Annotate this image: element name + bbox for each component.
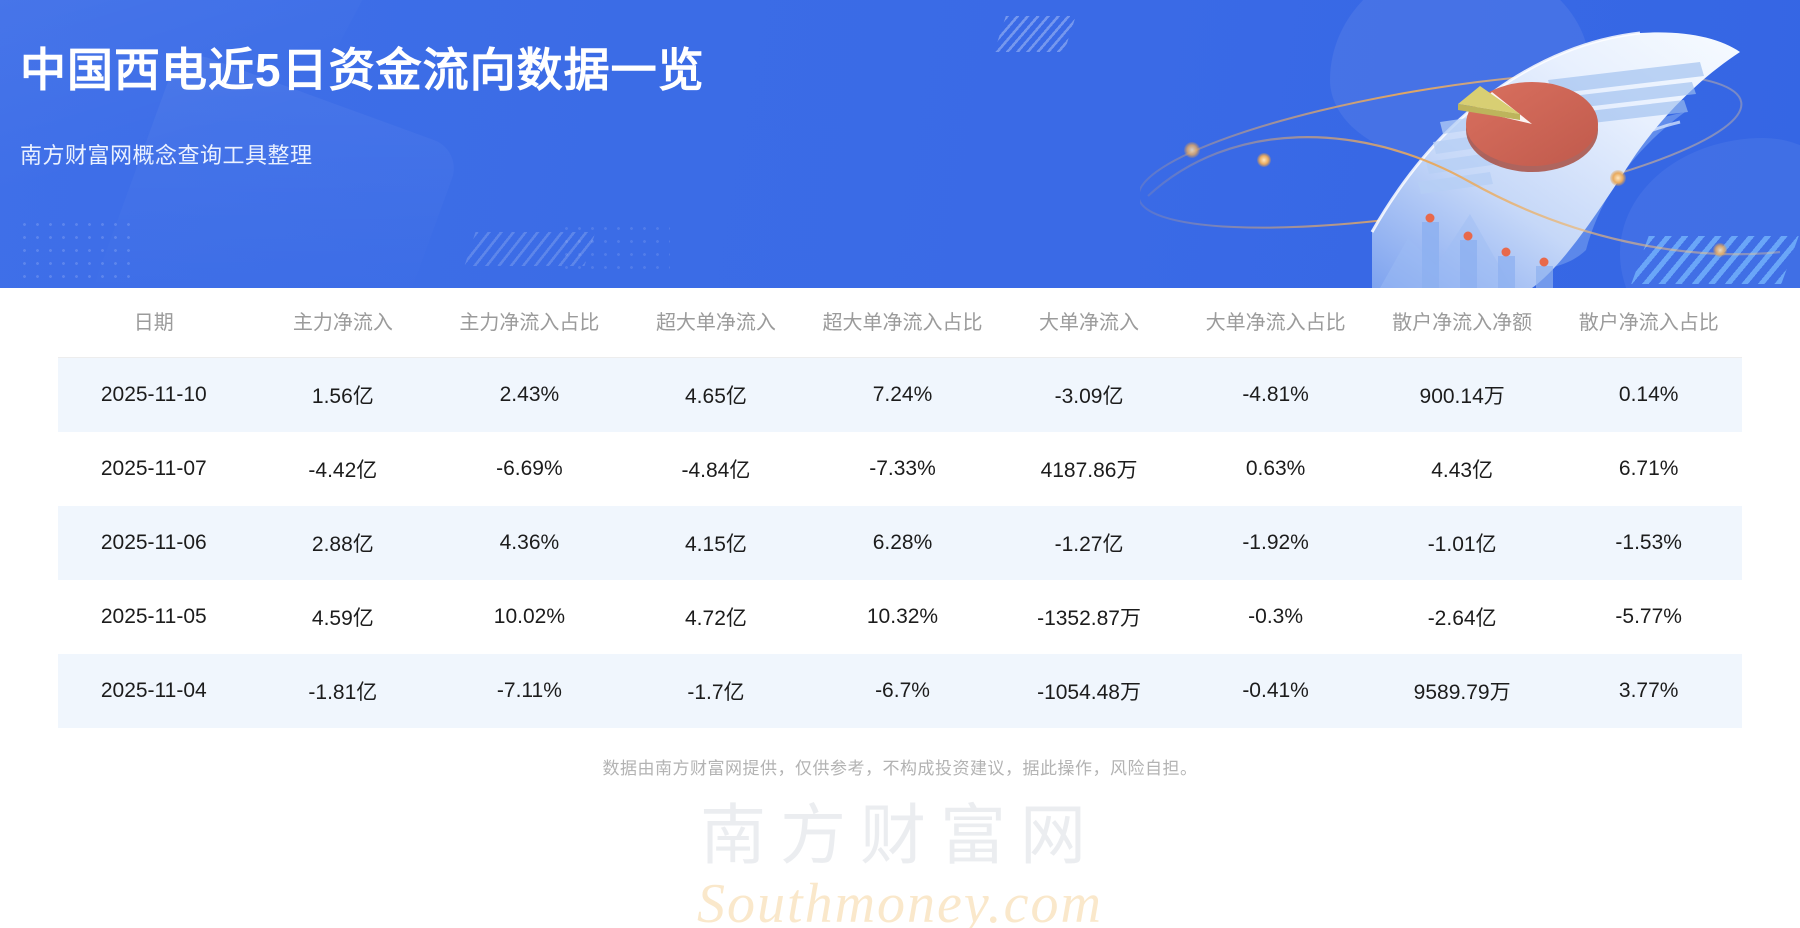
banner-decor-stripes-left [464, 232, 595, 266]
column-header-big-pct: 大单净流入占比 [1182, 288, 1369, 358]
cell-main-net: 1.56亿 [250, 358, 437, 433]
report-document-chart-illustration [1140, 0, 1800, 288]
cell-super-pct: -7.33% [809, 432, 996, 506]
cell-big-net: -1.27亿 [996, 506, 1183, 580]
cell-main-pct: 2.43% [436, 358, 623, 433]
cell-main-pct: 4.36% [436, 506, 623, 580]
cell-big-pct: -0.41% [1182, 654, 1369, 728]
cell-big-net: -1352.87万 [996, 580, 1183, 654]
banner-decor-dot-grid-secondary [560, 222, 670, 274]
column-header-main-pct: 主力净流入占比 [436, 288, 623, 358]
watermark-english: Southmoney.com [697, 876, 1103, 928]
cell-date: 2025-11-05 [58, 580, 250, 654]
column-header-retail-pct: 散户净流入占比 [1555, 288, 1742, 358]
cell-retail-net: 4.43亿 [1369, 432, 1556, 506]
banner-text-block: 中国西电近5日资金流向数据一览 南方财富网概念查询工具整理 [20, 42, 705, 170]
cell-retail-pct: 3.77% [1555, 654, 1742, 728]
fund-flow-table-section: 南方财富网 Southmoney.com 日期 主力净流入 主力净流入占比 超大… [0, 288, 1800, 779]
site-watermark: 南方财富网 Southmoney.com [0, 788, 1800, 928]
cell-super-net: 4.72亿 [623, 580, 810, 654]
disclaimer-text: 数据由南方财富网提供，仅供参考，不构成投资建议，据此操作，风险自担。 [58, 754, 1742, 779]
table-row: 2025-11-05 4.59亿 10.02% 4.72亿 10.32% -13… [58, 580, 1742, 654]
table-row: 2025-11-06 2.88亿 4.36% 4.15亿 6.28% -1.27… [58, 506, 1742, 580]
cell-main-pct: 10.02% [436, 580, 623, 654]
banner-decor-stripes-top [994, 16, 1076, 52]
watermark-chinese: 南方财富网 [700, 804, 1100, 870]
table-row: 2025-11-10 1.56亿 2.43% 4.65亿 7.24% -3.09… [58, 358, 1742, 433]
cell-main-net: 4.59亿 [250, 580, 437, 654]
cell-big-pct: -4.81% [1182, 358, 1369, 433]
page-banner: 中国西电近5日资金流向数据一览 南方财富网概念查询工具整理 [0, 0, 1800, 288]
column-header-retail-net: 散户净流入净额 [1369, 288, 1556, 358]
cell-main-net: -1.81亿 [250, 654, 437, 728]
cell-main-net: 2.88亿 [250, 506, 437, 580]
cell-date: 2025-11-10 [58, 358, 250, 433]
cell-date: 2025-11-04 [58, 654, 250, 728]
page-root: 中国西电近5日资金流向数据一览 南方财富网概念查询工具整理 [0, 0, 1800, 928]
page-subtitle: 南方财富网概念查询工具整理 [20, 138, 705, 170]
cell-super-net: -1.7亿 [623, 654, 810, 728]
table-header-row: 日期 主力净流入 主力净流入占比 超大单净流入 超大单净流入占比 大单净流入 大… [58, 288, 1742, 358]
cell-retail-net: -2.64亿 [1369, 580, 1556, 654]
cell-big-net: -3.09亿 [996, 358, 1183, 433]
fund-flow-table: 日期 主力净流入 主力净流入占比 超大单净流入 超大单净流入占比 大单净流入 大… [58, 288, 1742, 728]
cell-date: 2025-11-06 [58, 506, 250, 580]
cell-big-pct: 0.63% [1182, 432, 1369, 506]
cell-retail-pct: -1.53% [1555, 506, 1742, 580]
cell-super-pct: 6.28% [809, 506, 996, 580]
column-header-super-net: 超大单净流入 [623, 288, 810, 358]
table-row: 2025-11-04 -1.81亿 -7.11% -1.7亿 -6.7% -10… [58, 654, 1742, 728]
cell-retail-pct: -5.77% [1555, 580, 1742, 654]
cell-date: 2025-11-07 [58, 432, 250, 506]
cell-main-pct: -7.11% [436, 654, 623, 728]
cell-super-pct: 7.24% [809, 358, 996, 433]
banner-decor-dot-grid [18, 218, 138, 278]
cell-big-pct: -1.92% [1182, 506, 1369, 580]
column-header-date: 日期 [58, 288, 250, 358]
column-header-big-net: 大单净流入 [996, 288, 1183, 358]
cell-super-pct: 10.32% [809, 580, 996, 654]
cell-super-net: 4.65亿 [623, 358, 810, 433]
cell-super-net: -4.84亿 [623, 432, 810, 506]
table-row: 2025-11-07 -4.42亿 -6.69% -4.84亿 -7.33% 4… [58, 432, 1742, 506]
cell-retail-pct: 6.71% [1555, 432, 1742, 506]
column-header-super-pct: 超大单净流入占比 [809, 288, 996, 358]
cell-retail-net: 900.14万 [1369, 358, 1556, 433]
cell-retail-pct: 0.14% [1555, 358, 1742, 433]
cell-super-net: 4.15亿 [623, 506, 810, 580]
cell-super-pct: -6.7% [809, 654, 996, 728]
cell-big-net: 4187.86万 [996, 432, 1183, 506]
cell-big-pct: -0.3% [1182, 580, 1369, 654]
cell-retail-net: 9589.79万 [1369, 654, 1556, 728]
page-title: 中国西电近5日资金流向数据一览 [20, 42, 705, 100]
column-header-main-net: 主力净流入 [250, 288, 437, 358]
cell-big-net: -1054.48万 [996, 654, 1183, 728]
cell-main-pct: -6.69% [436, 432, 623, 506]
cell-main-net: -4.42亿 [250, 432, 437, 506]
cell-retail-net: -1.01亿 [1369, 506, 1556, 580]
